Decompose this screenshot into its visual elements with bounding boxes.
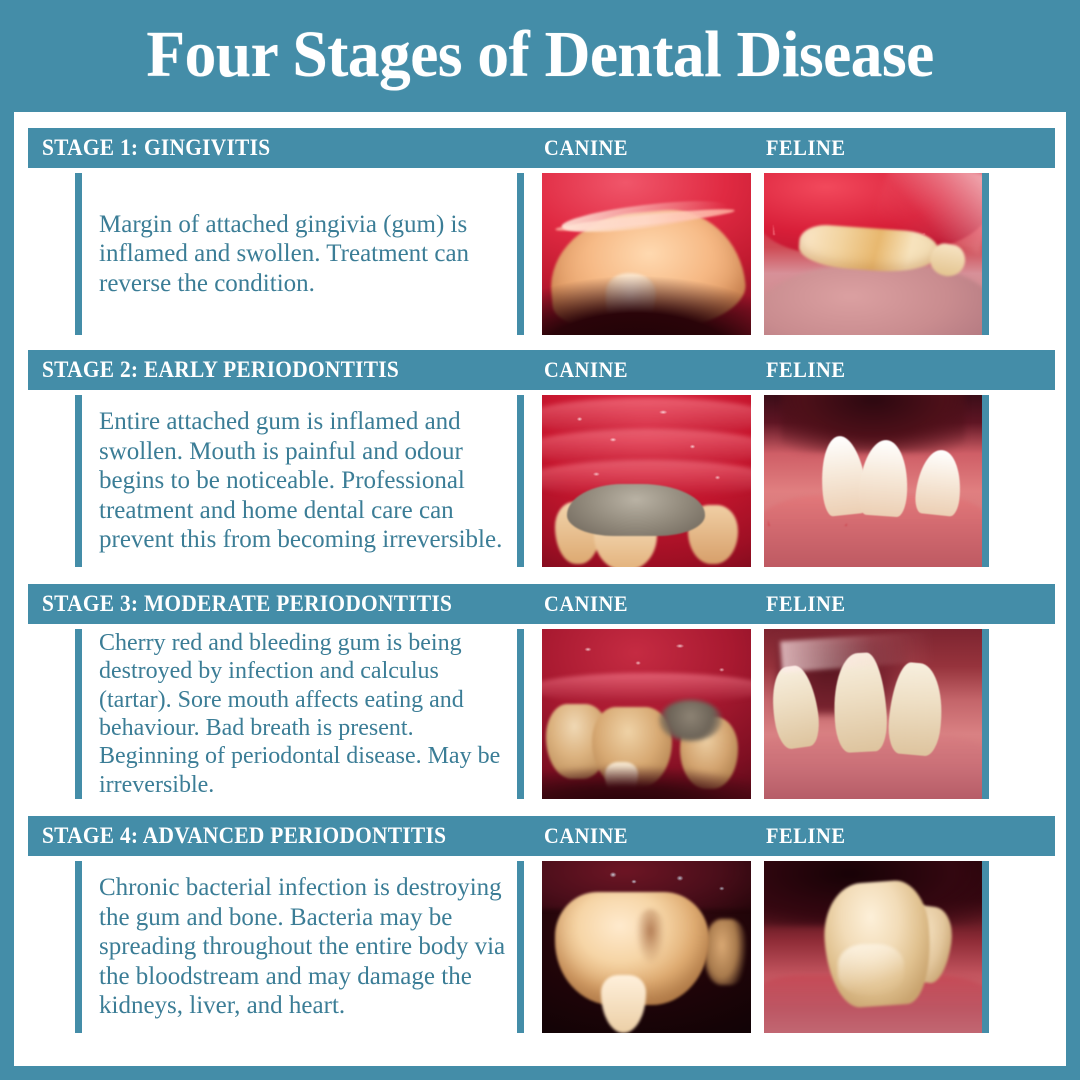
stage-3-header-bar: STAGE 3: MODERATE PERIODONTITIS CANINE F… bbox=[28, 584, 1055, 624]
stage-3-canine-label: CANINE bbox=[544, 591, 628, 617]
stage-1-header-bar: STAGE 1: GINGIVITIS CANINE FELINE bbox=[28, 128, 1055, 168]
stage-3-feline-label: FELINE bbox=[766, 591, 846, 617]
canine-moderate-periodontitis-photo bbox=[542, 629, 751, 799]
stage-4-description: Chronic bacterial infection is destroyin… bbox=[82, 873, 517, 1021]
stages-card: STAGE 1: GINGIVITIS CANINE FELINE Margin… bbox=[14, 112, 1066, 1066]
stage-1-photo-group bbox=[531, 173, 989, 335]
stage-2-description: Entire attached gum is inflamed and swol… bbox=[82, 407, 517, 555]
feline-advanced-periodontitis-photo bbox=[764, 861, 982, 1033]
stage-2-photo-group bbox=[531, 395, 989, 567]
stage-row-4: STAGE 4: ADVANCED PERIODONTITIS CANINE F… bbox=[14, 816, 1066, 1050]
stage-3-description-box: Cherry red and bleeding gum is being des… bbox=[75, 629, 524, 799]
stage-4-heading: STAGE 4: ADVANCED PERIODONTITIS bbox=[42, 823, 446, 849]
stage-row-2: STAGE 2: EARLY PERIODONTITIS CANINE FELI… bbox=[14, 350, 1066, 584]
stage-2-header-bar: STAGE 2: EARLY PERIODONTITIS CANINE FELI… bbox=[28, 350, 1055, 390]
dental-disease-poster: Four Stages of Dental Disease STAGE 1: G… bbox=[0, 0, 1080, 1080]
page-title: Four Stages of Dental Disease bbox=[146, 22, 933, 88]
stage-2-heading: STAGE 2: EARLY PERIODONTITIS bbox=[42, 357, 399, 383]
stage-1-description-box: Margin of attached gingivia (gum) is inf… bbox=[75, 173, 524, 335]
feline-moderate-periodontitis-photo bbox=[764, 629, 982, 799]
stage-3-heading: STAGE 3: MODERATE PERIODONTITIS bbox=[42, 591, 452, 617]
stage-1-canine-label: CANINE bbox=[544, 135, 628, 161]
canine-early-periodontitis-photo bbox=[542, 395, 751, 567]
stage-row-1: STAGE 1: GINGIVITIS CANINE FELINE Margin… bbox=[14, 128, 1066, 350]
canine-advanced-periodontitis-photo bbox=[542, 861, 751, 1033]
canine-gingivitis-photo bbox=[542, 173, 751, 335]
stage-3-description: Cherry red and bleeding gum is being des… bbox=[82, 629, 517, 799]
stage-4-header-bar: STAGE 4: ADVANCED PERIODONTITIS CANINE F… bbox=[28, 816, 1055, 856]
stage-4-description-box: Chronic bacterial infection is destroyin… bbox=[75, 861, 524, 1033]
stage-4-photo-group bbox=[531, 861, 989, 1033]
stage-4-feline-label: FELINE bbox=[766, 823, 846, 849]
feline-early-periodontitis-photo bbox=[764, 395, 982, 567]
stage-3-photo-group bbox=[531, 629, 989, 799]
stage-2-description-box: Entire attached gum is inflamed and swol… bbox=[75, 395, 524, 567]
stage-1-heading: STAGE 1: GINGIVITIS bbox=[42, 135, 270, 161]
poster-title-bar: Four Stages of Dental Disease bbox=[0, 0, 1080, 110]
stage-2-canine-label: CANINE bbox=[544, 357, 628, 383]
stage-row-3: STAGE 3: MODERATE PERIODONTITIS CANINE F… bbox=[14, 584, 1066, 816]
stage-4-canine-label: CANINE bbox=[544, 823, 628, 849]
stage-1-feline-label: FELINE bbox=[766, 135, 846, 161]
stage-1-description: Margin of attached gingivia (gum) is inf… bbox=[82, 210, 517, 299]
stage-2-feline-label: FELINE bbox=[766, 357, 846, 383]
feline-gingivitis-photo bbox=[764, 173, 982, 335]
